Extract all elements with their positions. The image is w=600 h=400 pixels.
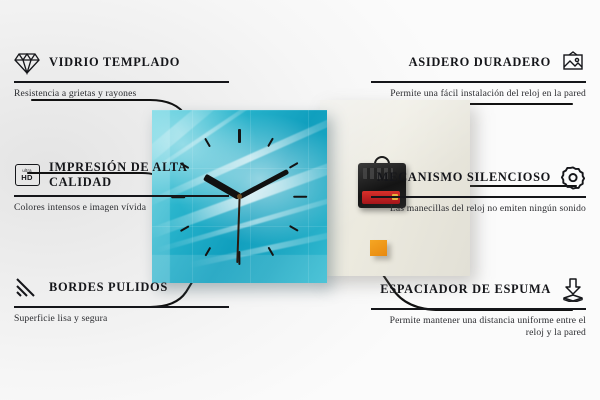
divider	[14, 195, 229, 197]
feature-title: VIDRIO TEMPLADO	[49, 55, 180, 70]
feature-espaciador-espuma: ESPACIADOR DE ESPUMA Permite mantener un…	[371, 277, 586, 340]
foam-spacer	[370, 240, 387, 256]
feature-desc: Permite mantener una distancia uniforme …	[371, 315, 586, 340]
divider	[371, 196, 586, 198]
feature-desc: Colores intensos e imagen vívida	[14, 202, 229, 215]
foam-spacer-icon	[560, 277, 586, 303]
divider	[14, 306, 229, 308]
clock-tick	[240, 195, 308, 197]
divider	[14, 81, 229, 83]
feature-desc: Superficie lisa y segura	[14, 313, 229, 326]
feature-bordes-pulidos: BORDES PULIDOS Superficie lisa y segura	[14, 275, 229, 325]
clock-tick	[238, 129, 240, 197]
infographic-canvas: VIDRIO TEMPLADO Resistencia a grietas y …	[0, 0, 600, 400]
diamond-icon	[14, 50, 40, 76]
feature-impresion-alta-calidad: ultra HD IMPRESIÓN DE ALTA CALIDAD Color…	[14, 160, 229, 215]
picture-hanger-icon	[560, 50, 586, 76]
ultra-hd-icon-main: HD	[21, 174, 33, 182]
feature-title: BORDES PULIDOS	[49, 280, 168, 295]
divider	[371, 81, 586, 83]
ultra-hd-icon: ultra HD	[14, 162, 40, 188]
divider	[371, 308, 586, 310]
feature-desc: Permite una fácil instalación del reloj …	[371, 88, 586, 101]
feature-desc: Las manecillas del reloj no emiten ningú…	[371, 203, 586, 216]
feature-title: ESPACIADOR DE ESPUMA	[380, 282, 551, 297]
clock-center-cap	[237, 194, 242, 199]
feature-asidero-duradero: ASIDERO DURADERO Permite una fácil insta…	[371, 50, 586, 100]
feature-title: ASIDERO DURADERO	[409, 55, 551, 70]
feature-mecanismo-silencioso: MECANISMO SILENCIOSO Las manecillas del …	[371, 165, 586, 215]
feature-title: IMPRESIÓN DE ALTA CALIDAD	[49, 160, 229, 190]
feature-vidrio-templado: VIDRIO TEMPLADO Resistencia a grietas y …	[14, 50, 229, 100]
feature-desc: Resistencia a grietas y rayones	[14, 88, 229, 101]
feature-title: MECANISMO SILENCIOSO	[377, 170, 551, 185]
gear-icon	[560, 165, 586, 191]
polished-edges-icon	[14, 275, 40, 301]
